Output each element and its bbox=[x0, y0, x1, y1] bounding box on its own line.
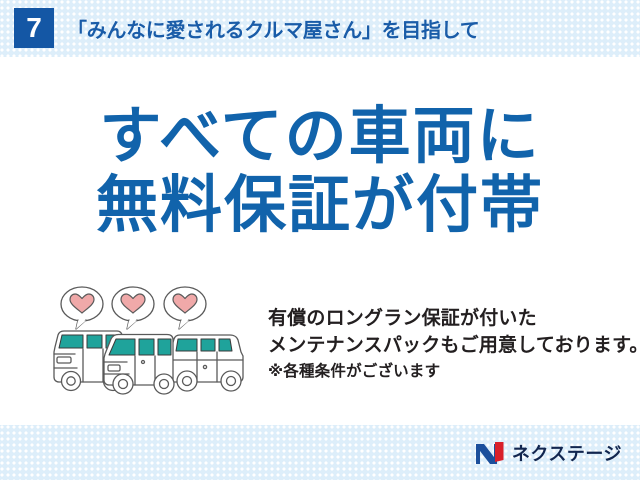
brand-logo: ネクステージ bbox=[475, 440, 622, 466]
car-minivan bbox=[104, 335, 174, 395]
headline-line-2: 無料保証が付帯 bbox=[0, 171, 640, 240]
header-band: 7 「みんなに愛されるクルマ屋さん」を目指して bbox=[0, 0, 640, 57]
headline: すべての車両に 無料保証が付帯 bbox=[0, 102, 640, 241]
section-number-badge: 7 bbox=[14, 8, 54, 48]
cars-and-hearts-graphic bbox=[45, 282, 260, 402]
nextage-n-logo-icon bbox=[475, 440, 505, 466]
footer-band: ネクステージ bbox=[0, 425, 640, 480]
body-text-block: 有償のロングラン保証が付いた メンテナンスパックもご用意しております。 ※各種条… bbox=[268, 306, 640, 383]
detail-row: 有償のロングラン保証が付いた メンテナンスパックもご用意しております。 ※各種条… bbox=[0, 282, 640, 417]
main-content: すべての車両に 無料保証が付帯 bbox=[0, 57, 640, 425]
brand-logo-text: ネクステージ bbox=[512, 440, 622, 466]
header-title: 「みんなに愛されるクルマ屋さん」を目指して bbox=[67, 14, 480, 43]
warranty-promo-slide: 7 「みんなに愛されるクルマ屋さん」を目指して すべての車両に 無料保証が付帯 bbox=[0, 0, 640, 480]
body-line-1: 有償のロングラン保証が付いた bbox=[268, 306, 640, 333]
three-cars-illustration bbox=[45, 282, 260, 402]
body-line-2: メンテナンスパックもご用意しております。 bbox=[268, 333, 640, 360]
headline-line-1: すべての車両に bbox=[0, 102, 640, 171]
body-note: ※各種条件がございます bbox=[268, 361, 640, 383]
car-suv bbox=[169, 335, 243, 391]
header-content: 7 「みんなに愛されるクルマ屋さん」を目指して bbox=[14, 8, 480, 48]
